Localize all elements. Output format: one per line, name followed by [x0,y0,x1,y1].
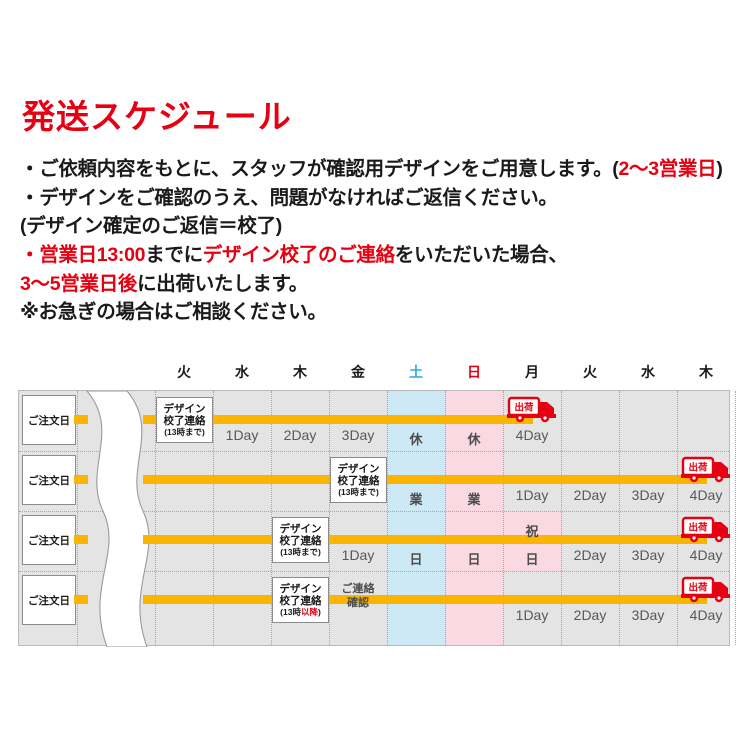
note-line: (デザイン確定のご返信＝校了) [20,212,740,241]
day-header-7: 火 [561,362,619,382]
note-line: 3～5営業日後に出荷いたします。 [20,270,740,299]
calendar-grid: ご注文日デザイン校了連絡(13時まで)1Day2Day3Day出荷4Dayご注文… [18,390,730,646]
shipping-schedule-infographic: 発送スケジュール ・ご依頼内容をもとに、スタッフが確認用デザインをご用意します。… [0,0,750,750]
contact-confirm-row3: ご連絡確認 [329,583,387,611]
timeline-break-wave [77,391,155,645]
timeline-bar-row3 [143,595,707,604]
order-date-box-row3: ご注文日 [22,575,76,625]
day-header-6: 月 [503,362,561,382]
closed-day-char-r2-c4: 日 [387,549,445,568]
day-count-1Day-row2: 1Day [329,547,387,563]
day-header-5: 日 [445,362,503,382]
holiday-char-top: 祝 [503,521,561,540]
shipping-truck-icon-row2: 出荷 [681,515,733,545]
day-count-1Day-row3: 1Day [503,607,561,623]
closed-day-char-r1-c5: 業 [445,489,503,508]
note-line: ・営業日13:00までにデザイン校了のご連絡をいただいた場合、 [20,241,740,270]
note-text: デザイン校了のご連絡 [203,244,395,266]
timeline-bar-stub-row1 [74,475,88,484]
note-text: をいただいた場合、 [395,244,568,266]
day-header-1: 水 [213,362,271,382]
holiday-char-bottom: 日 [503,549,561,568]
calendar-day-header: 火水木金土日月火水木 [18,362,732,390]
order-date-box-row2: ご注文日 [22,515,76,565]
page-title: 発送スケジュール [22,100,292,133]
timeline-bar-stub-row0 [74,415,88,424]
shipping-truck-icon-row3: 出荷 [681,575,733,605]
note-text: ) [716,158,722,180]
day-header-2: 木 [271,362,329,382]
timeline-bar-row2 [143,535,707,544]
svg-text:出荷: 出荷 [514,402,534,414]
day-count-3Day-row3: 3Day [619,607,677,623]
note-text: 2～3営業日 [618,158,716,180]
ship-day-count-row1: 4Day [677,487,735,503]
day-header-9: 木 [677,362,735,382]
ship-day-count-row0: 4Day [503,427,561,443]
note-text: 営業日13:00 [39,244,145,266]
timeline-bar-row1 [143,475,707,484]
note-text: ※お急ぎの場合はご相談ください。 [20,301,327,323]
note-line: ・デザインをご確認のうえ、問題がなければご返信ください。 [20,184,740,213]
closed-day-char-r1-c4: 業 [387,489,445,508]
day-count-1Day-row0: 1Day [213,427,271,443]
note-text: までに [145,244,203,266]
note-text: ・ご依頼内容をもとに、スタッフが確認用デザインをご用意します。( [20,158,618,180]
day-count-2Day-row1: 2Day [561,487,619,503]
order-date-box-row0: ご注文日 [22,395,76,445]
day-count-3Day-row0: 3Day [329,427,387,443]
note-line: ・ご依頼内容をもとに、スタッフが確認用デザインをご用意します。(2～3営業日) [20,155,740,184]
day-header-4: 土 [387,362,445,382]
order-date-box-row1: ご注文日 [22,455,76,505]
day-count-2Day-row0: 2Day [271,427,329,443]
note-text: ・デザインをご確認のうえ、問題がなければご返信ください。 [20,187,558,209]
design-proof-box-row2: デザイン校了連絡(13時まで) [272,517,329,563]
note-text: (デザイン確定のご返信＝校了) [20,215,282,237]
svg-text:出荷: 出荷 [688,522,708,534]
note-text: 3～5営業日後 [20,273,137,295]
svg-text:出荷: 出荷 [688,582,708,594]
ship-day-count-row3: 4Day [677,607,735,623]
design-proof-box-row1: デザイン校了連絡(13時まで) [330,457,387,503]
timeline-bar-stub-row3 [74,595,88,604]
day-count-3Day-row2: 3Day [619,547,677,563]
closed-day-char-r0-c4: 休 [387,429,445,448]
closed-day-char-r2-c5: 日 [445,549,503,568]
day-count-2Day-row2: 2Day [561,547,619,563]
shipping-calendar: 火水木金土日月火水木 ご注文日デザイン校了連絡(13時まで)1Day2Day3D… [18,362,732,646]
note-text: に出荷いたします。 [137,273,308,295]
column-divider-10 [735,391,736,645]
day-count-2Day-row3: 2Day [561,607,619,623]
design-proof-box-row3: デザイン校了連絡(13時以降) [272,577,329,623]
note-line: ※お急ぎの場合はご相談ください。 [20,298,740,327]
day-header-8: 水 [619,362,677,382]
note-text: ・ [20,244,39,266]
timeline-bar-stub-row2 [74,535,88,544]
closed-day-char-r0-c5: 休 [445,429,503,448]
svg-text:出荷: 出荷 [688,462,708,474]
shipping-truck-icon-row0: 出荷 [507,395,559,425]
ship-day-count-row2: 4Day [677,547,735,563]
day-count-3Day-row1: 3Day [619,487,677,503]
day-header-0: 火 [155,362,213,382]
day-header-3: 金 [329,362,387,382]
day-count-1Day-row1: 1Day [503,487,561,503]
design-proof-box-row0: デザイン校了連絡(13時まで) [156,397,213,443]
shipping-truck-icon-row1: 出荷 [681,455,733,485]
notes-list: ・ご依頼内容をもとに、スタッフが確認用デザインをご用意します。(2～3営業日)・… [20,155,740,327]
